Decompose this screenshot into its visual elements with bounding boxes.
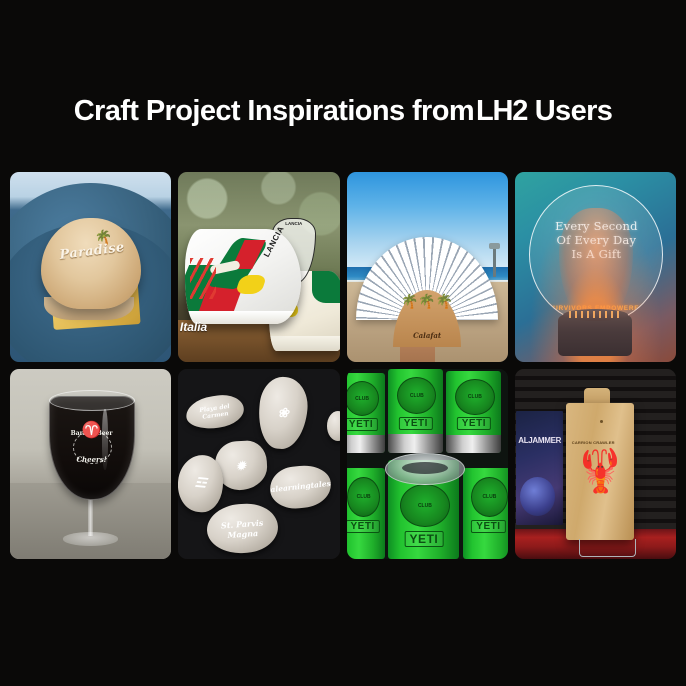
lifeguard-tower — [493, 248, 496, 277]
carrion-crawler-icon: 🦞 — [572, 450, 629, 505]
yeti-brand-text: YETI — [347, 520, 380, 533]
beer-glass-artwork: Barry's Beer ♈ Cheers! — [10, 369, 171, 559]
fan-engraved-text: Calafat — [393, 331, 461, 340]
cutting-board-artwork: ALJAMMER CARRION CRAWLER 🦞 — [515, 369, 676, 559]
glass-rim — [49, 390, 135, 411]
gallery-tile-custom-lancia-sneakers[interactable]: LANCIA LANCIA Italia Custom painted Lanc… — [178, 172, 339, 362]
cutting-board: CARRION CRAWLER 🦞 — [566, 403, 634, 540]
tumbler: CLUB YETI — [347, 468, 386, 559]
tumbler: CLUB YETI — [463, 468, 508, 559]
sneaker-front — [185, 229, 301, 324]
gallery-page: Craft Project Inspirations fromLH2 Users… — [0, 0, 686, 686]
yeti-brand-text: YETI — [457, 417, 491, 430]
inspiration-gallery-grid: 🌴 Paradise Laser engraved burger bun on … — [10, 172, 676, 559]
book-title-text: ALJAMMER — [518, 436, 561, 445]
tile-caption: Engraved folding hand fan held up at the… — [347, 361, 508, 362]
tile-caption: Dark beer in an engraved tulip glass wit… — [10, 558, 171, 559]
tumbler: CLUB YETI — [446, 371, 501, 453]
spelljammer-book: ALJAMMER — [516, 411, 563, 525]
gallery-tile-engraved-beer-glass[interactable]: Barry's Beer ♈ Cheers! Dark beer in an e… — [10, 369, 171, 559]
page-title-prefix: Craft Project Inspirations from — [74, 95, 474, 127]
tumbler: CLUB YETI — [388, 369, 443, 453]
gallery-tile-acrylic-led-light[interactable]: Every Second Of Every Day Is A Gift SURV… — [515, 172, 676, 362]
board-title-text: CARRION CRAWLER — [572, 440, 615, 445]
club-badge-icon: CLUB — [347, 477, 380, 517]
crest-motto-text: Cheers! — [50, 455, 134, 464]
page-title-suffix: Users — [527, 95, 612, 127]
palm-tree-icon: 🌴🌴🌴 — [393, 294, 461, 308]
led-light-artwork: Every Second Of Every Day Is A Gift SURV… — [515, 172, 676, 362]
club-badge-icon: CLUB — [455, 379, 494, 415]
tumbler-lid — [385, 453, 464, 485]
page-title: Craft Project Inspirations fromLH2 Users — [74, 97, 613, 126]
shoe-laces — [190, 258, 216, 300]
gallery-tile-engraved-cutting-board[interactable]: ALJAMMER CARRION CRAWLER 🦞 Wooden cuttin… — [515, 369, 676, 559]
tumbler: CLUB YETI — [347, 373, 386, 453]
club-badge-icon: CLUB — [397, 377, 436, 414]
yeti-brand-text: YETI — [471, 520, 505, 533]
tile-caption: Assorted engraved river stones on a dark… — [178, 558, 339, 559]
page-title-brand: LH2 — [474, 95, 527, 127]
beach-fan-artwork: 🌴🌴🌴 Calafat — [347, 172, 508, 362]
stones-artwork: Playa del Carmen ❀ ✹ ☲ alearningtales St… — [178, 369, 339, 559]
gallery-tile-engraved-yeti-tumblers[interactable]: CLUB YETI CLUB YETI CLUB YETI CLUB YETI — [347, 369, 508, 559]
yeti-brand-text: YETI — [399, 417, 433, 430]
glass-stem — [88, 494, 93, 536]
club-badge-icon: CLUB — [400, 484, 450, 527]
gallery-tile-engraved-stones[interactable]: Playa del Carmen ❀ ✹ ☲ alearningtales St… — [178, 369, 339, 559]
display-stand — [579, 539, 636, 557]
italia-side-text: Italia — [180, 320, 207, 334]
yeti-brand-text: YETI — [405, 531, 444, 547]
board-body-text — [572, 519, 629, 524]
gallery-tile-engraved-burger-bun[interactable]: 🌴 Paradise Laser engraved burger bun on … — [10, 172, 171, 362]
gallery-tile-engraved-beach-fan[interactable]: 🌴🌴🌴 Calafat Engraved folding hand fan he… — [347, 172, 508, 362]
club-badge-icon: CLUB — [471, 477, 508, 517]
ram-head-icon: ♈ — [50, 423, 134, 439]
burger-bun-artwork: 🌴 Paradise — [10, 172, 171, 362]
fan-engraved-panel: 🌴🌴🌴 Calafat — [393, 290, 461, 347]
yeti-tumblers-artwork: CLUB YETI CLUB YETI CLUB YETI CLUB YETI — [347, 369, 508, 559]
tile-caption: Laser engraved burger bun on a blue plat… — [10, 361, 171, 362]
tile-caption: Engraved acrylic LED night light with a … — [515, 361, 676, 362]
sneakers-artwork: LANCIA LANCIA Italia — [178, 172, 339, 362]
tile-caption: Custom painted Lancia Italia sneakers on… — [178, 361, 339, 362]
tile-caption: Wooden cutting board engraved with a Car… — [515, 558, 676, 559]
page-title-wrapper: Craft Project Inspirations fromLH2 Users — [0, 78, 686, 146]
club-badge-icon: CLUB — [347, 381, 380, 417]
led-base — [558, 315, 632, 357]
yeti-brand-text: YETI — [347, 418, 379, 431]
